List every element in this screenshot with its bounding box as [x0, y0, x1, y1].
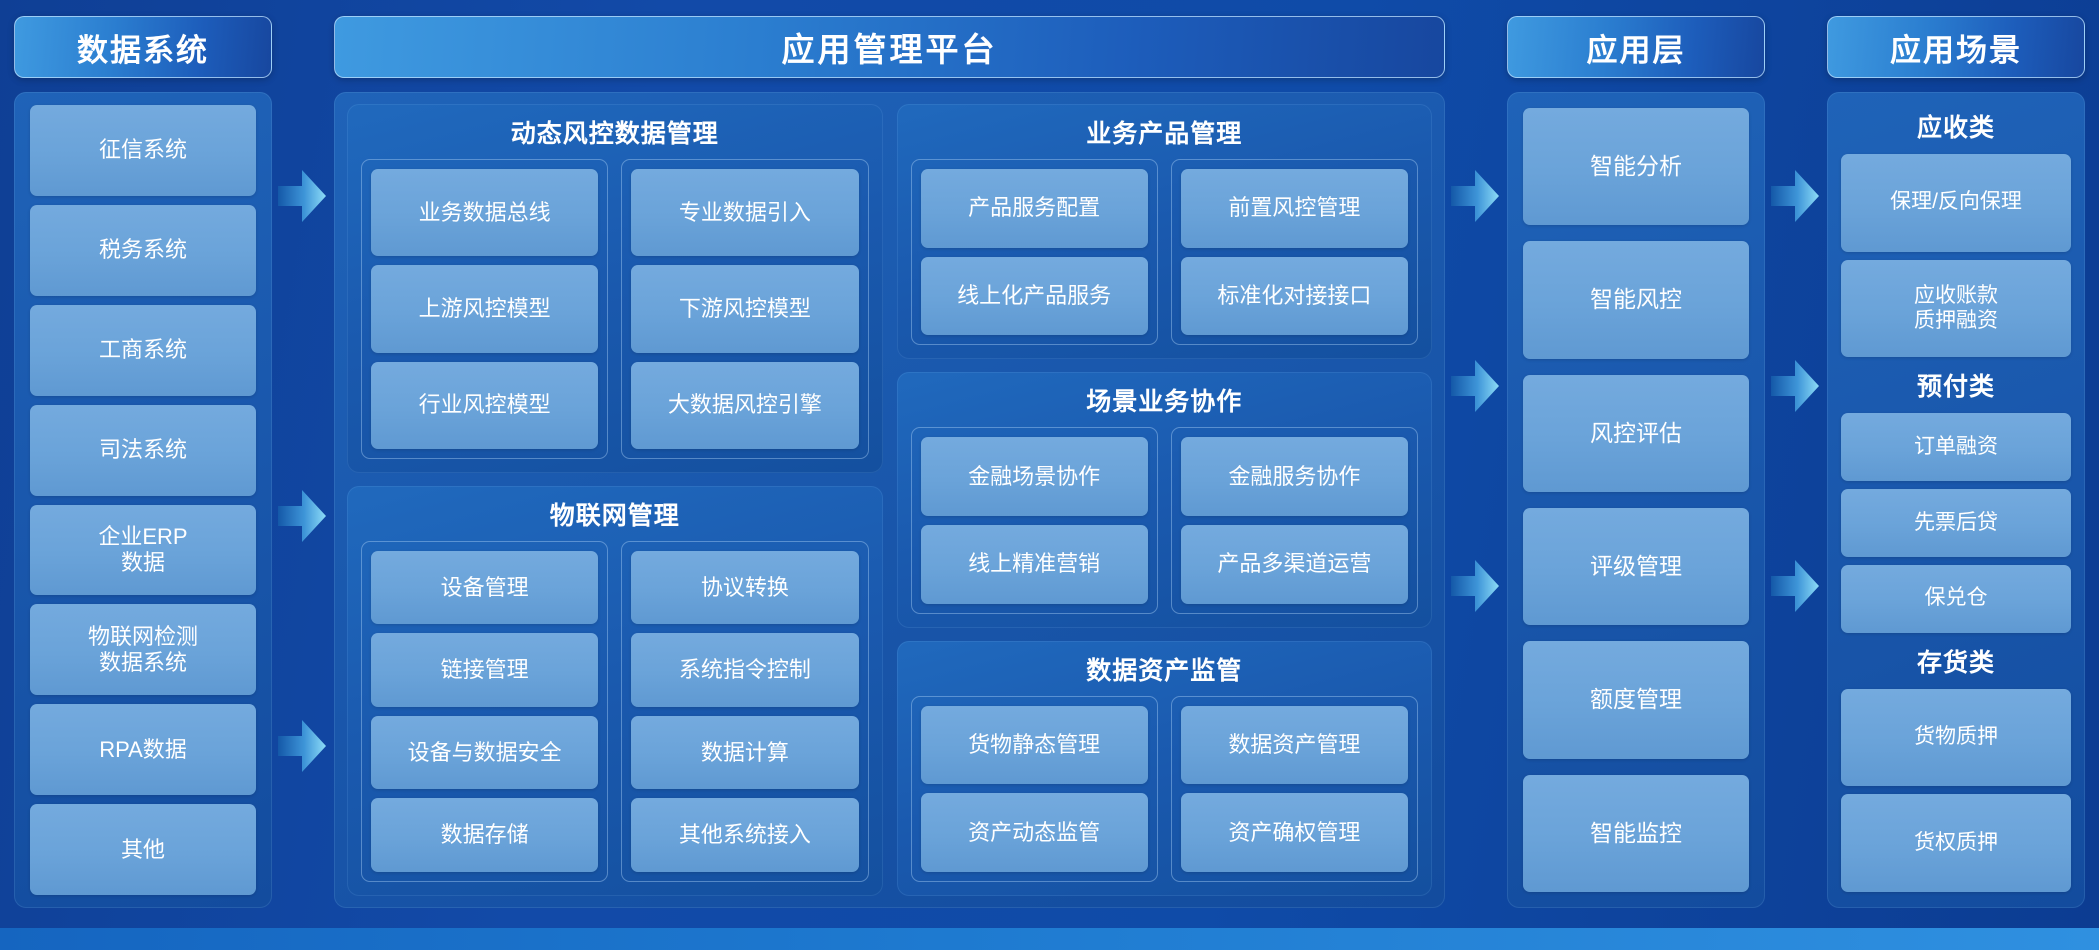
- connector-gutter-data-to-platform: [272, 16, 334, 908]
- data-system-item-4[interactable]: 企业ERP 数据: [30, 505, 256, 596]
- group-item[interactable]: 资产动态监管: [921, 793, 1148, 872]
- group-item[interactable]: 标准化对接接口: [1181, 257, 1408, 336]
- group-item[interactable]: 数据存储: [371, 798, 598, 872]
- group-title: 动态风控数据管理: [361, 114, 869, 150]
- data-system-item-0[interactable]: 征信系统: [30, 105, 256, 196]
- scene-group-title: 应收类: [1841, 104, 2071, 146]
- scene-item[interactable]: 订单融资: [1841, 413, 2071, 481]
- arrow-right-icon: [278, 166, 326, 226]
- group-item[interactable]: 货物静态管理: [921, 706, 1148, 785]
- group-item[interactable]: 大数据风控引擎: [631, 362, 858, 449]
- group-title: 数据资产监管: [911, 651, 1419, 687]
- scene-item[interactable]: 先票后贷: [1841, 489, 2071, 557]
- subcard-right: 数据资产管理 资产确权管理: [1171, 696, 1418, 882]
- app-layer-item-0[interactable]: 智能分析: [1523, 108, 1749, 225]
- arrow-right-icon: [1451, 166, 1499, 226]
- scene-item[interactable]: 货权质押: [1841, 794, 2071, 892]
- arrow-right-icon: [1771, 356, 1819, 416]
- platform-panel: 动态风控数据管理 业务数据总线 上游风控模型 行业风控模型 专业数据引入 下游风…: [334, 92, 1445, 908]
- column-app-layer: 应用层 智能分析 智能风控 风控评估 评级管理 额度管理 智能监控: [1507, 16, 1765, 908]
- column-scenes: 应用场景 应收类 保理/反向保理 应收账款 质押融资 预付类 订单融资 先票后贷…: [1827, 16, 2085, 908]
- group-item[interactable]: 其他系统接入: [631, 798, 858, 872]
- platform-subcolumn-left: 动态风控数据管理 业务数据总线 上游风控模型 行业风控模型 专业数据引入 下游风…: [347, 104, 883, 896]
- scene-group-receivables: 应收类 保理/反向保理 应收账款 质押融资: [1841, 104, 2071, 361]
- scene-group-title: 存货类: [1841, 639, 2071, 681]
- data-system-item-6[interactable]: RPA数据: [30, 704, 256, 795]
- subcard-left: 产品服务配置 线上化产品服务: [911, 159, 1158, 345]
- subcard-left: 金融场景协作 线上精准营销: [911, 427, 1158, 613]
- scene-item[interactable]: 保兑仓: [1841, 565, 2071, 633]
- column-platform: 应用管理平台 动态风控数据管理 业务数据总线 上游风控模型 行业风控模型: [334, 16, 1445, 908]
- group-title: 物联网管理: [361, 496, 869, 532]
- column-header-app-layer: 应用层: [1507, 16, 1765, 78]
- subcard-right: 协议转换 系统指令控制 数据计算 其他系统接入: [621, 541, 868, 882]
- group-item[interactable]: 行业风控模型: [371, 362, 598, 449]
- data-system-item-1[interactable]: 税务系统: [30, 205, 256, 296]
- scenes-panel: 应收类 保理/反向保理 应收账款 质押融资 预付类 订单融资 先票后贷 保兑仓 …: [1827, 92, 2085, 908]
- group-item[interactable]: 上游风控模型: [371, 265, 598, 352]
- group-item[interactable]: 产品多渠道运营: [1181, 525, 1408, 604]
- group-item[interactable]: 协议转换: [631, 551, 858, 625]
- app-layer-item-5[interactable]: 智能监控: [1523, 775, 1749, 892]
- arrow-right-icon: [1771, 166, 1819, 226]
- scene-group-inventory: 存货类 货物质押 货权质押: [1841, 639, 2071, 896]
- group-title: 场景业务协作: [911, 382, 1419, 418]
- group-dynamic-risk-data-management: 动态风控数据管理 业务数据总线 上游风控模型 行业风控模型 专业数据引入 下游风…: [347, 104, 883, 473]
- group-item[interactable]: 产品服务配置: [921, 169, 1148, 248]
- group-item[interactable]: 系统指令控制: [631, 633, 858, 707]
- subcard-left: 设备管理 链接管理 设备与数据安全 数据存储: [361, 541, 608, 882]
- group-item[interactable]: 数据计算: [631, 716, 858, 790]
- subcard-right: 金融服务协作 产品多渠道运营: [1171, 427, 1418, 613]
- platform-subcolumn-right: 业务产品管理 产品服务配置 线上化产品服务 前置风控管理 标准化对接接口: [897, 104, 1433, 896]
- subcard-right: 前置风控管理 标准化对接接口: [1171, 159, 1418, 345]
- app-layer-item-4[interactable]: 额度管理: [1523, 641, 1749, 758]
- group-title: 业务产品管理: [911, 114, 1419, 150]
- arrow-right-icon: [1451, 356, 1499, 416]
- app-layer-item-2[interactable]: 风控评估: [1523, 375, 1749, 492]
- group-item[interactable]: 金融场景协作: [921, 437, 1148, 516]
- group-data-asset-supervision: 数据资产监管 货物静态管理 资产动态监管 数据资产管理 资产确权管理: [897, 641, 1433, 896]
- scene-group-prepaid: 预付类 订单融资 先票后贷 保兑仓: [1841, 363, 2071, 636]
- group-item[interactable]: 线上精准营销: [921, 525, 1148, 604]
- column-header-scenes: 应用场景: [1827, 16, 2085, 78]
- data-system-item-5[interactable]: 物联网检测 数据系统: [30, 604, 256, 695]
- scene-item[interactable]: 保理/反向保理: [1841, 154, 2071, 252]
- app-layer-item-3[interactable]: 评级管理: [1523, 508, 1749, 625]
- group-item[interactable]: 业务数据总线: [371, 169, 598, 256]
- column-header-data-system: 数据系统: [14, 16, 272, 78]
- group-item[interactable]: 设备与数据安全: [371, 716, 598, 790]
- subcard-left: 业务数据总线 上游风控模型 行业风控模型: [361, 159, 608, 459]
- data-system-item-3[interactable]: 司法系统: [30, 405, 256, 496]
- bottom-accent-strip: [0, 928, 2099, 950]
- group-item[interactable]: 数据资产管理: [1181, 706, 1408, 785]
- data-system-item-7[interactable]: 其他: [30, 804, 256, 895]
- column-header-platform: 应用管理平台: [334, 16, 1445, 78]
- group-business-product-management: 业务产品管理 产品服务配置 线上化产品服务 前置风控管理 标准化对接接口: [897, 104, 1433, 359]
- group-item[interactable]: 链接管理: [371, 633, 598, 707]
- column-data-system: 数据系统 征信系统 税务系统 工商系统 司法系统 企业ERP 数据 物联网检测 …: [14, 16, 272, 908]
- subcard-left: 货物静态管理 资产动态监管: [911, 696, 1158, 882]
- arrow-right-icon: [278, 716, 326, 776]
- scene-item[interactable]: 货物质押: [1841, 689, 2071, 787]
- arrow-right-icon: [1771, 556, 1819, 616]
- scene-group-title: 预付类: [1841, 363, 2071, 405]
- app-layer-panel: 智能分析 智能风控 风控评估 评级管理 额度管理 智能监控: [1507, 92, 1765, 908]
- group-item[interactable]: 线上化产品服务: [921, 257, 1148, 336]
- scene-item[interactable]: 应收账款 质押融资: [1841, 260, 2071, 358]
- group-item[interactable]: 下游风控模型: [631, 265, 858, 352]
- connector-gutter-applayer-to-scenes: [1765, 16, 1827, 908]
- app-layer-item-1[interactable]: 智能风控: [1523, 241, 1749, 358]
- arrow-right-icon: [1451, 556, 1499, 616]
- group-item[interactable]: 前置风控管理: [1181, 169, 1408, 248]
- architecture-diagram: 数据系统 征信系统 税务系统 工商系统 司法系统 企业ERP 数据 物联网检测 …: [0, 0, 2099, 918]
- group-item[interactable]: 设备管理: [371, 551, 598, 625]
- arrow-right-icon: [278, 486, 326, 546]
- group-item[interactable]: 资产确权管理: [1181, 793, 1408, 872]
- data-system-item-2[interactable]: 工商系统: [30, 305, 256, 396]
- group-item[interactable]: 专业数据引入: [631, 169, 858, 256]
- group-item[interactable]: 金融服务协作: [1181, 437, 1408, 516]
- connector-gutter-platform-to-applayer: [1445, 16, 1507, 908]
- data-system-panel: 征信系统 税务系统 工商系统 司法系统 企业ERP 数据 物联网检测 数据系统 …: [14, 92, 272, 908]
- group-scenario-business-collaboration: 场景业务协作 金融场景协作 线上精准营销 金融服务协作 产品多渠道运营: [897, 372, 1433, 627]
- subcard-right: 专业数据引入 下游风控模型 大数据风控引擎: [621, 159, 868, 459]
- group-iot-management: 物联网管理 设备管理 链接管理 设备与数据安全 数据存储 协议转换 系统指令控制: [347, 486, 883, 896]
